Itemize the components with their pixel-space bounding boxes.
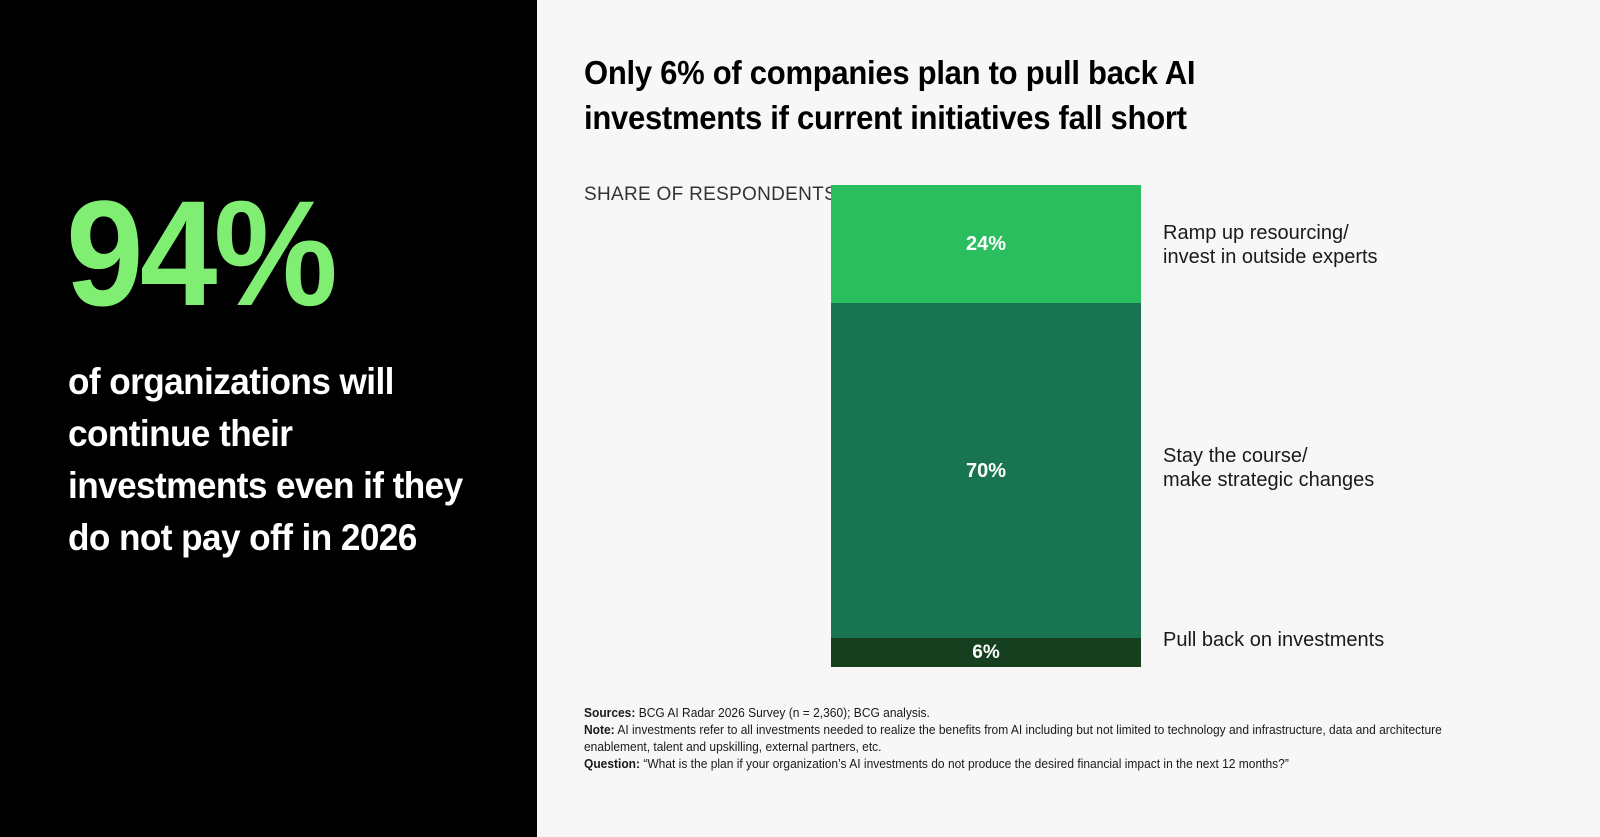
footnote-note-text: AI investments refer to all investments … [584,723,1442,754]
footnote-note-label: Note: [584,723,615,737]
footnote-question-text: “What is the plan if your organization’s… [640,757,1289,771]
footnote-sources-text: BCG AI Radar 2026 Survey (n = 2,360); BC… [635,706,929,720]
footnotes: Sources: BCG AI Radar 2026 Survey (n = 2… [584,705,1448,773]
category-label-pull-back: Pull back on investments [1163,628,1384,652]
category-label-stay-the-course: Stay the course/ make strategic changes [1163,444,1374,492]
category-label-ramp-up: Ramp up resourcing/ invest in outside ex… [1163,221,1378,269]
footnote-question: Question: “What is the plan if your orga… [584,756,1448,773]
footnote-note: Note: AI investments refer to all invest… [584,722,1448,756]
chart-panel: Only 6% of companies plan to pull back A… [537,0,1600,837]
footnote-question-label: Question: [584,757,640,771]
headline-stat: 94% [66,178,334,328]
headline-stat-description: of organizations will continue their inv… [68,356,467,564]
left-stat-panel: 94% of organizations will continue their… [0,0,537,837]
slide-root: 94% of organizations will continue their… [0,0,1600,837]
footnote-sources: Sources: BCG AI Radar 2026 Survey (n = 2… [584,705,1448,722]
footnote-sources-label: Sources: [584,706,635,720]
